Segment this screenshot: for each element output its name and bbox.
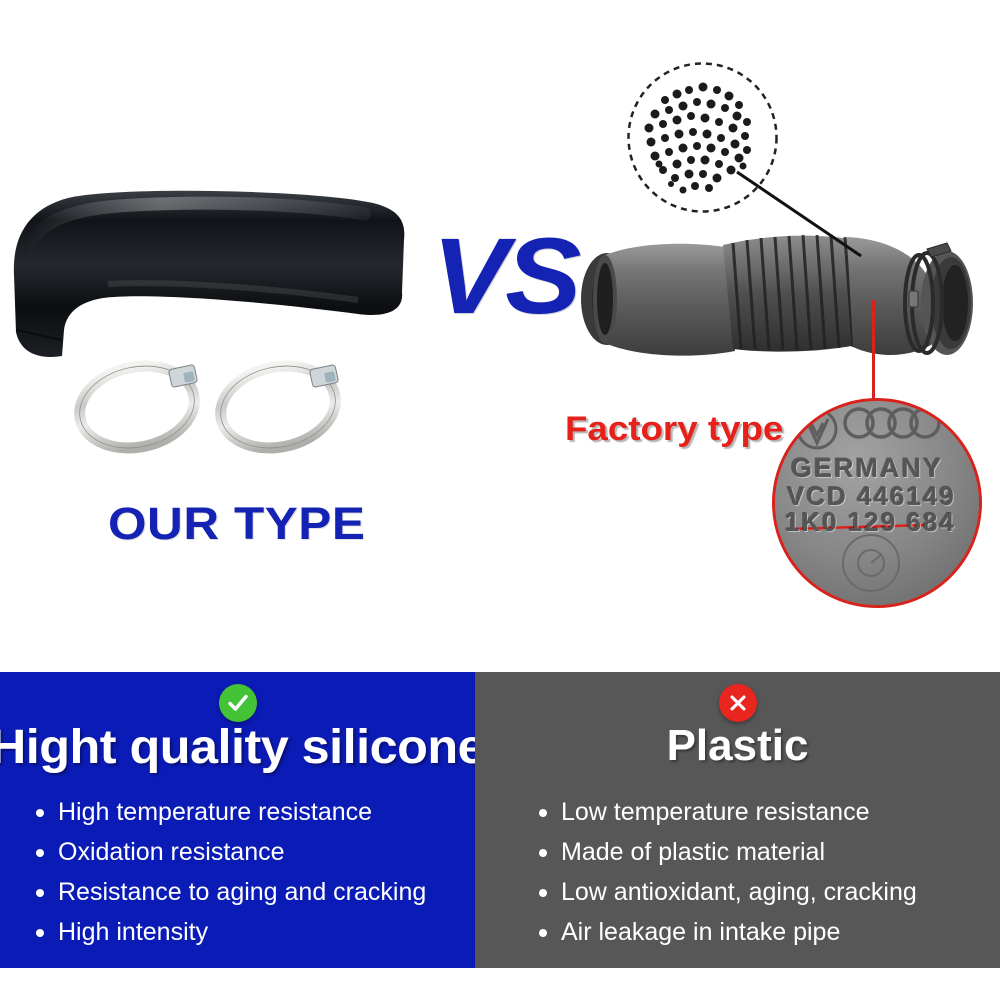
list-item: Made of plastic material bbox=[535, 832, 917, 872]
feature-list-silicone: High temperature resistance Oxidation re… bbox=[32, 792, 426, 952]
our-type-label: OUR TYPE bbox=[108, 498, 365, 550]
list-item: Resistance to aging and cracking bbox=[32, 872, 426, 912]
list-item: High temperature resistance bbox=[32, 792, 426, 832]
emboss-line-partnumber: 1K0 129 684 bbox=[785, 507, 956, 538]
emboss-line-germany: GERMANY bbox=[791, 453, 943, 484]
check-circle-icon bbox=[219, 684, 257, 722]
list-item: Air leakage in intake pipe bbox=[535, 912, 917, 952]
panel-title-silicone: Hight quality silicone bbox=[0, 724, 487, 772]
embossed-marking-detail: GERMANY VCD 446149 1K0 129 684 bbox=[772, 398, 982, 608]
panel-plastic: Plastic Low temperature resistance Made … bbox=[475, 672, 1000, 968]
factory-type-label: Factory type bbox=[565, 410, 783, 449]
marking-leader-line bbox=[872, 300, 875, 404]
granule-leader-line bbox=[735, 170, 865, 260]
list-item: High intensity bbox=[32, 912, 426, 952]
cross-circle-icon bbox=[719, 684, 757, 722]
hose-clamps-image bbox=[70, 350, 370, 460]
feature-list-plastic: Low temperature resistance Made of plast… bbox=[535, 792, 917, 952]
list-item: Low antioxidant, aging, cracking bbox=[535, 872, 917, 912]
panel-title-plastic: Plastic bbox=[475, 724, 1000, 768]
list-item: Low temperature resistance bbox=[535, 792, 917, 832]
list-item: Oxidation resistance bbox=[32, 832, 426, 872]
product-comparison-area: VS OUR TYPE bbox=[0, 0, 1000, 672]
silicone-hose-image bbox=[8, 180, 408, 370]
feature-comparison-panels: Hight quality silicone High temperature … bbox=[0, 672, 1000, 968]
vs-label: VS bbox=[432, 222, 578, 330]
panel-silicone: Hight quality silicone High temperature … bbox=[0, 672, 475, 968]
